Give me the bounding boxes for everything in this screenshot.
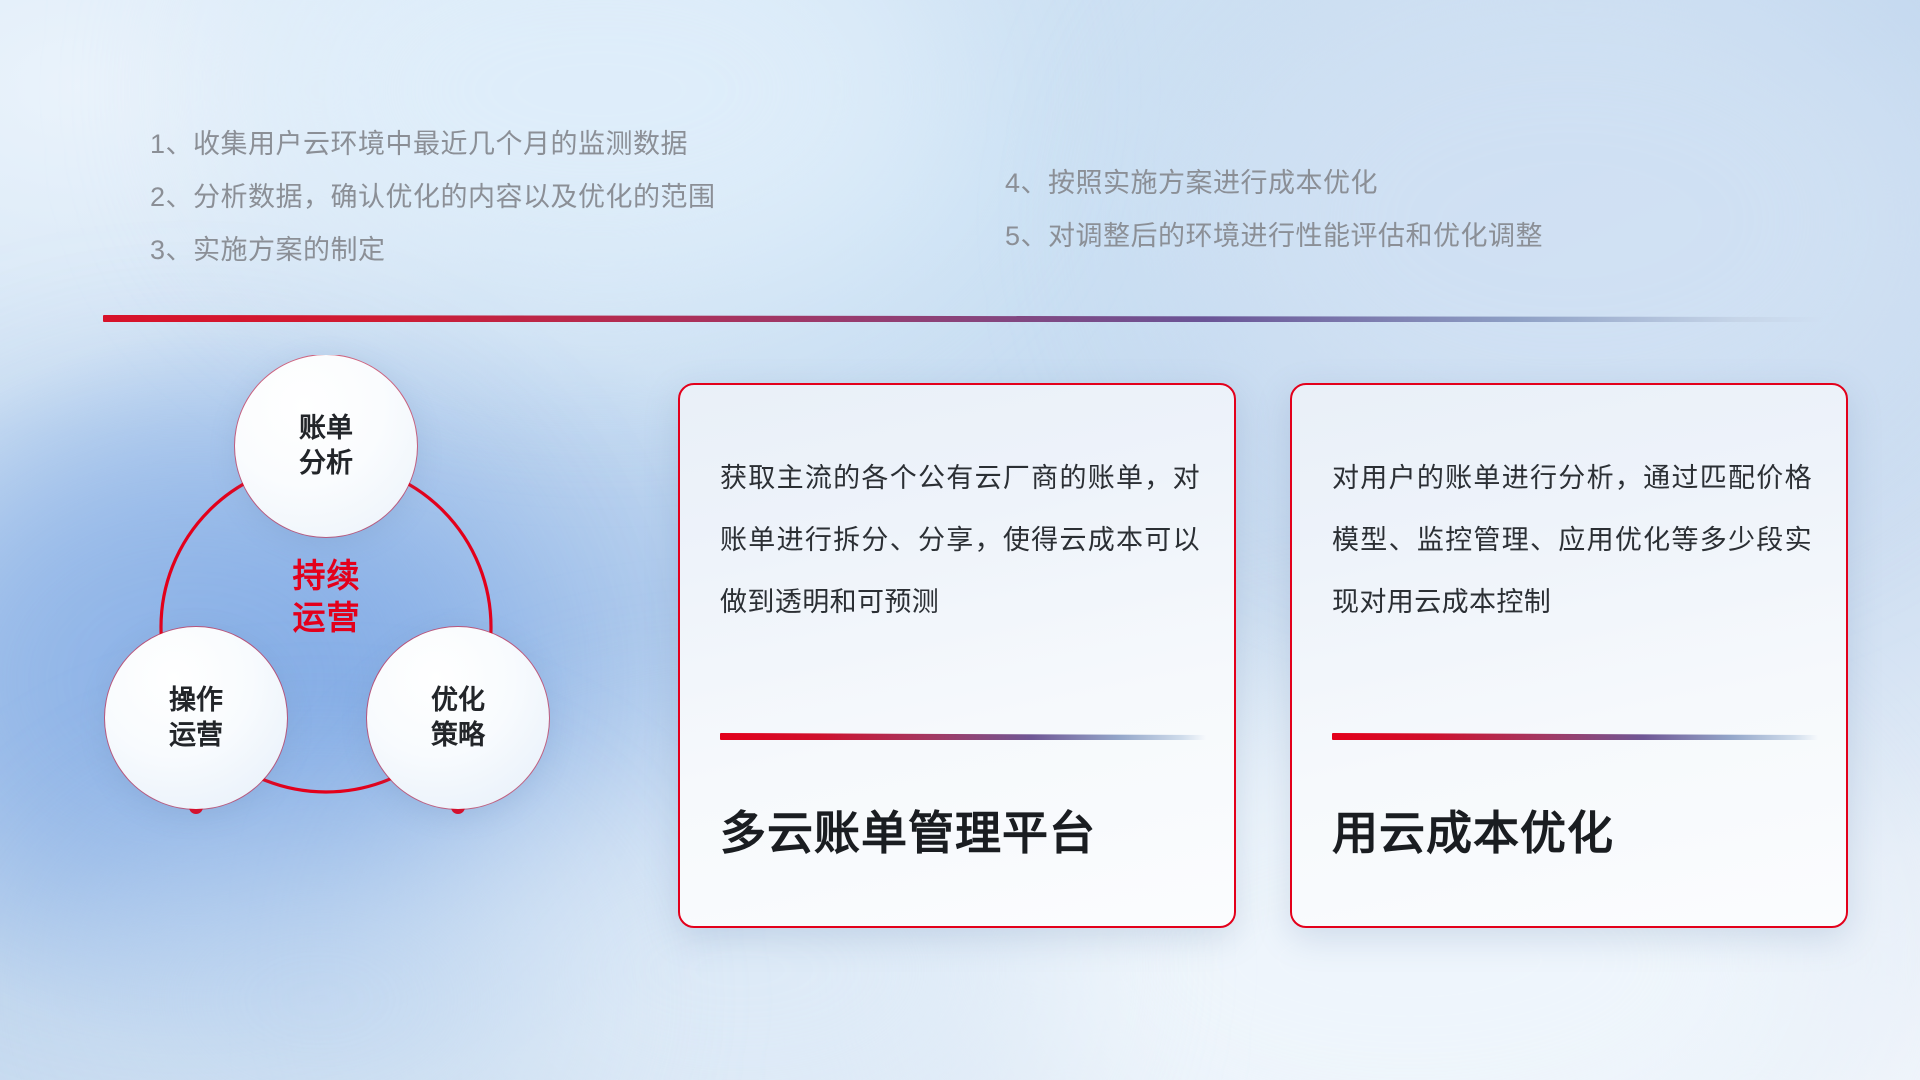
slide-canvas: 1、收集用户云环境中最近几个月的监测数据 2、分析数据，确认优化的内容以及优化的… — [0, 0, 1920, 1080]
venn-bubble-left-line1: 操作 — [169, 683, 223, 718]
venn-bubble-billing-analysis[interactable]: 账单 分析 — [235, 355, 417, 537]
card-cloud-cost-optimization[interactable]: 对用户的账单进行分析，通过匹配价格模型、监控管理、应用优化等多少段实现对用云成本… — [1290, 383, 1848, 928]
venn-center-label: 持续 运营 — [245, 537, 408, 657]
card-2-title: 用云成本优化 — [1332, 797, 1614, 863]
venn-bubble-top-line2: 分析 — [299, 446, 353, 481]
step-item-5: 5、对调整后的环境进行性能评估和优化调整 — [1005, 210, 1543, 263]
card-2-divider — [1332, 733, 1818, 740]
step-item-3: 3、实施方案的制定 — [150, 224, 716, 277]
card-1-title: 多云账单管理平台 — [720, 797, 1096, 863]
card-multicloud-billing-platform[interactable]: 获取主流的各个公有云厂商的账单，对账单进行拆分、分享，使得云成本可以做到透明和可… — [678, 383, 1236, 928]
venn-bubble-right-line1: 优化 — [431, 683, 485, 718]
steps-right-column: 4、按照实施方案进行成本优化 5、对调整后的环境进行性能评估和优化调整 — [1005, 157, 1543, 263]
venn-center-line1: 持续 — [293, 555, 361, 597]
card-1-divider — [720, 733, 1206, 740]
venn-bubble-right-line2: 策略 — [431, 718, 485, 753]
step-item-2: 2、分析数据，确认优化的内容以及优化的范围 — [150, 171, 716, 224]
card-2-body: 对用户的账单进行分析，通过匹配价格模型、监控管理、应用优化等多少段实现对用云成本… — [1332, 447, 1812, 633]
venn-bubble-top-line1: 账单 — [299, 411, 353, 446]
step-item-1: 1、收集用户云环境中最近几个月的监测数据 — [150, 118, 716, 171]
steps-left-column: 1、收集用户云环境中最近几个月的监测数据 2、分析数据，确认优化的内容以及优化的… — [150, 118, 716, 277]
venn-bubble-left-line2: 运营 — [169, 718, 223, 753]
section-divider-rule — [103, 315, 1823, 322]
step-item-4: 4、按照实施方案进行成本优化 — [1005, 157, 1543, 210]
venn-diagram: 账单 分析 操作 运营 优化 策略 持续 运营 — [95, 355, 635, 935]
card-1-body: 获取主流的各个公有云厂商的账单，对账单进行拆分、分享，使得云成本可以做到透明和可… — [720, 447, 1200, 633]
venn-center-line2: 运营 — [293, 597, 361, 639]
